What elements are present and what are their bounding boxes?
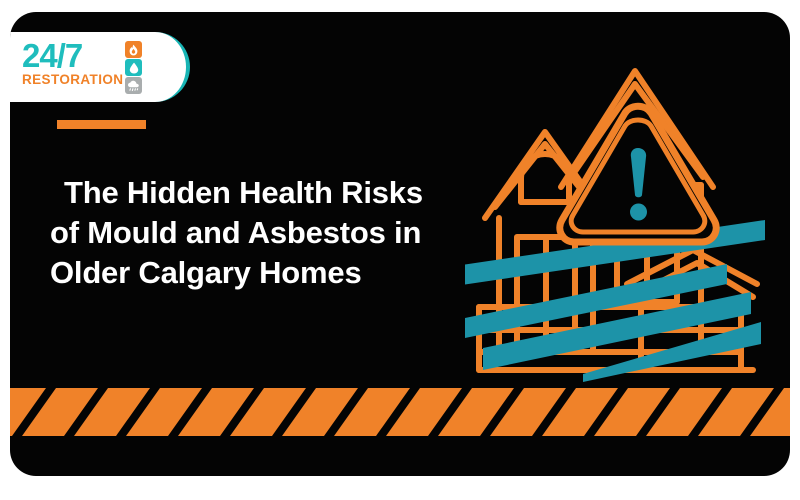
banner-stage: 24/7 RESTORATION xyxy=(0,0,800,500)
orange-accent-bar xyxy=(57,120,146,129)
warning-triangle-icon xyxy=(560,106,716,242)
logo-icon-stack xyxy=(125,41,142,94)
damaged-house-illustration xyxy=(465,52,765,382)
water-drop-icon xyxy=(125,59,142,76)
brand-logo[interactable]: 24/7 RESTORATION xyxy=(10,32,190,102)
logo-wordmark: 24/7 RESTORATION xyxy=(22,40,123,87)
banner-card: 24/7 RESTORATION xyxy=(10,12,790,476)
page-title: The Hidden Health Risks of Mould and Asb… xyxy=(50,173,430,294)
logo-inner: 24/7 RESTORATION xyxy=(22,40,142,94)
arched-window xyxy=(521,154,569,202)
logo-primary-text: 24/7 xyxy=(22,40,82,71)
logo-secondary-text: RESTORATION xyxy=(22,73,123,87)
hazard-stripe-band xyxy=(10,388,790,436)
fire-icon xyxy=(125,41,142,58)
storm-cloud-icon xyxy=(125,77,142,94)
